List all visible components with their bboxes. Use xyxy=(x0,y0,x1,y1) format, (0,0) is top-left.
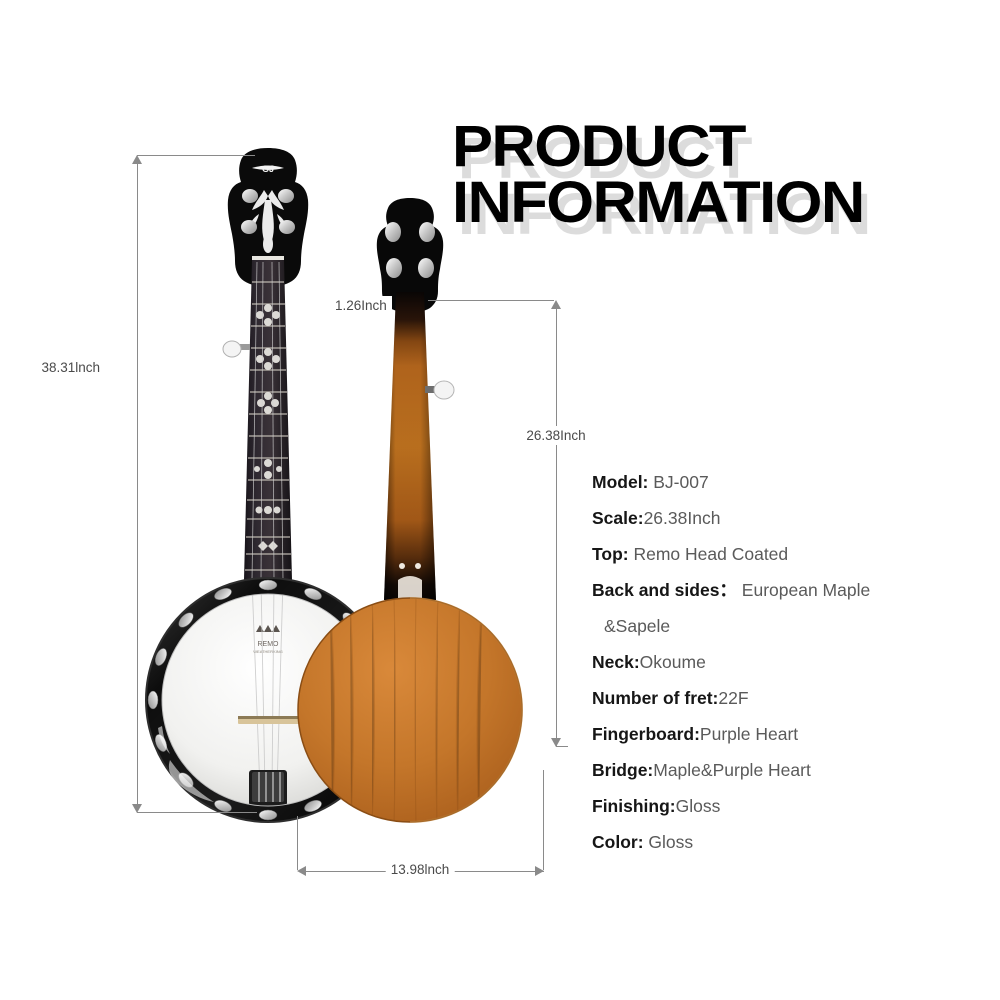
dimension-label-resonator-width: 13.98lnch xyxy=(386,860,455,879)
height-arrow-bottom xyxy=(132,804,142,813)
spec-row-bridge: Bridge:Maple&Purple Heart xyxy=(592,752,992,788)
spec-label-number-of-fret: Number of fret: xyxy=(592,688,718,708)
spec-value-fingerboard: Purple Heart xyxy=(700,724,798,744)
width-right-extension xyxy=(543,770,544,870)
product-information-page: GJ xyxy=(0,0,1000,1000)
spec-label-scale: Scale: xyxy=(592,508,644,528)
width-arrow-right xyxy=(535,866,544,876)
spec-row-back-and-sides-continued: &Sapele xyxy=(592,608,992,644)
back-resonator xyxy=(298,598,522,824)
specification-list: Model: BJ-007 Scale:26.38Inch Top: Remo … xyxy=(592,464,992,860)
width-left-extension xyxy=(297,816,298,870)
spec-label-neck: Neck: xyxy=(592,652,640,672)
spec-label-model: Model: xyxy=(592,472,648,492)
spec-label-fingerboard: Fingerboard: xyxy=(592,724,700,744)
spec-row-top: Top: Remo Head Coated xyxy=(592,536,992,572)
scale-bottom-extension xyxy=(556,746,568,747)
dimension-label-overall-height: 38.31lnch xyxy=(41,358,105,377)
spec-value-finishing: Gloss xyxy=(676,796,721,816)
headstock-width-line xyxy=(428,300,554,301)
dimension-label-scale-length: 26.38Inch xyxy=(521,426,590,445)
page-title-line1: PRODUCT xyxy=(452,118,745,175)
spec-label-bridge: Bridge: xyxy=(592,760,653,780)
dimension-label-headstock-width: 1.26Inch xyxy=(330,296,392,315)
spec-value-bridge: Maple&Purple Heart xyxy=(653,760,811,780)
spec-value-neck: Okoume xyxy=(640,652,706,672)
spec-label-finishing: Finishing: xyxy=(592,796,676,816)
spec-value-back-and-sides: European Maple xyxy=(737,580,870,600)
spec-label-back-and-sides: Back and sides： xyxy=(592,580,737,600)
spec-label-color: Color: xyxy=(592,832,644,852)
height-top-extension xyxy=(137,155,255,156)
spec-value-model: BJ-007 xyxy=(648,472,708,492)
spec-row-model: Model: BJ-007 xyxy=(592,464,992,500)
spec-row-back-and-sides: Back and sides： European Maple xyxy=(592,572,992,608)
spec-label-top: Top: xyxy=(592,544,629,564)
back-fifth-string-tuner xyxy=(425,381,454,399)
width-arrow-left xyxy=(297,866,306,876)
spec-row-number-of-fret: Number of fret:22F xyxy=(592,680,992,716)
spec-value-back-and-sides-continued: &Sapele xyxy=(604,616,670,636)
spec-row-scale: Scale:26.38Inch xyxy=(592,500,992,536)
height-bottom-extension xyxy=(137,812,257,813)
spec-value-top: Remo Head Coated xyxy=(629,544,789,564)
spec-value-number-of-fret: 22F xyxy=(718,688,748,708)
scale-dimension-line xyxy=(556,308,557,746)
spec-value-scale: 26.38Inch xyxy=(644,508,721,528)
page-title: PRODUCT INFORMATION PRODUCT INFORMATION xyxy=(452,118,922,238)
page-title-line2: INFORMATION xyxy=(452,174,864,231)
height-dimension-line xyxy=(137,163,138,804)
back-neck-sunburst xyxy=(384,292,454,600)
spec-row-color: Color: Gloss xyxy=(592,824,992,860)
spec-row-finishing: Finishing:Gloss xyxy=(592,788,992,824)
spec-row-fingerboard: Fingerboard:Purple Heart xyxy=(592,716,992,752)
spec-value-color: Gloss xyxy=(644,832,694,852)
spec-row-neck: Neck:Okoume xyxy=(592,644,992,680)
